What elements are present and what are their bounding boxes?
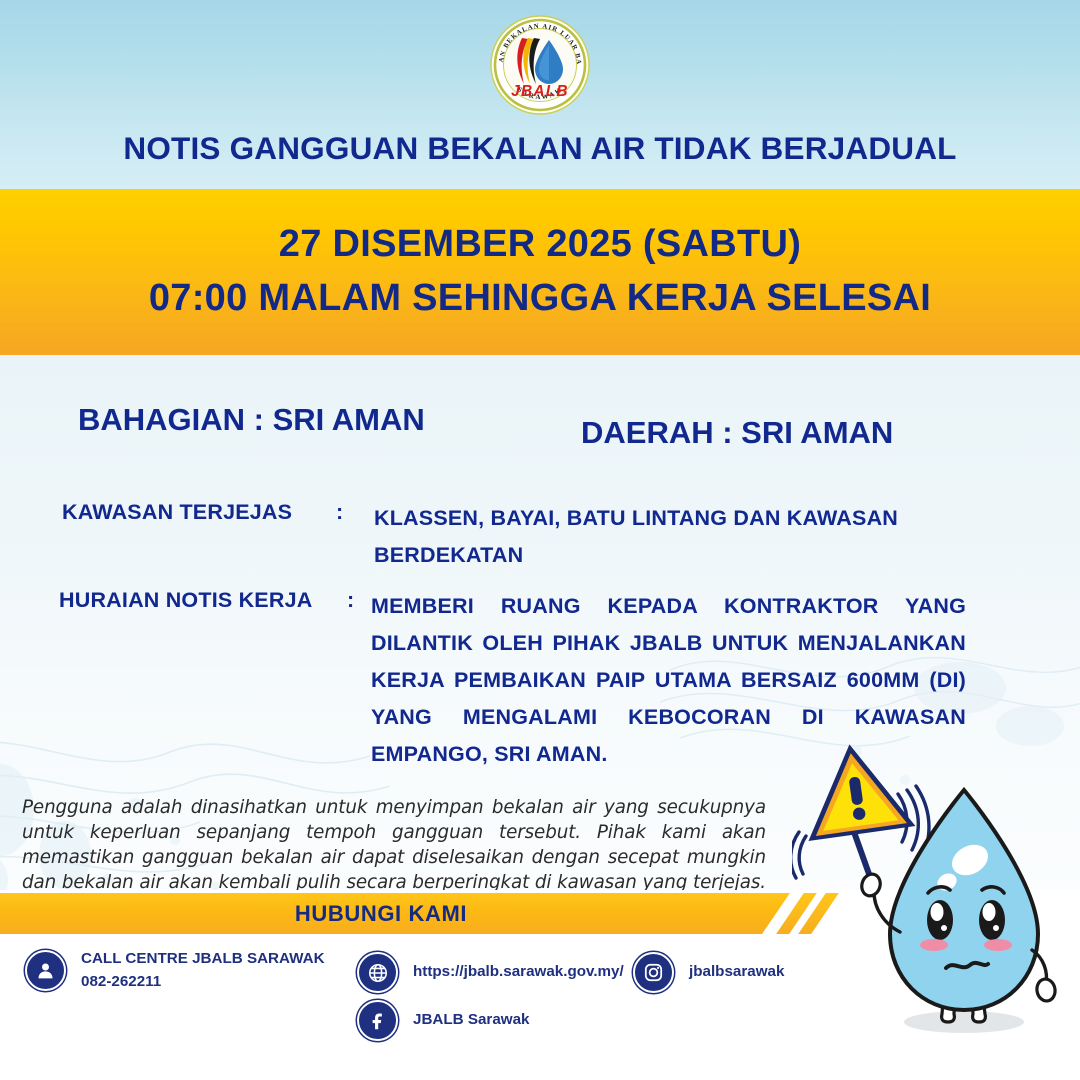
affected-areas-colon: : (336, 500, 343, 525)
work-description-label: HURAIAN NOTIS KERJA (59, 588, 312, 613)
division-label: BAHAGIAN : SRI AMAN (78, 402, 425, 438)
contact-banner: HUBUNGI KAMI (0, 893, 1080, 934)
facebook-label: JBALB Sarawak (413, 1009, 530, 1032)
contact-instagram[interactable]: jbalbsarawak (633, 952, 784, 993)
district-label: DAERAH : SRI AMAN (581, 415, 893, 451)
affected-areas-value: KLASSEN, BAYAI, BATU LINTANG DAN KAWASAN… (374, 500, 974, 574)
jbalb-seal-logo: JABATAN BEKALAN AIR LUAR BANDAR SARAWAK … (489, 14, 591, 116)
call-centre-text: CALL CENTRE JBALB SARAWAK 082-262211 (81, 948, 325, 994)
call-centre-line1: CALL CENTRE JBALB SARAWAK (81, 950, 325, 967)
svg-text:JBALB: JBALB (511, 83, 569, 100)
person-icon (25, 950, 66, 991)
contact-details: CALL CENTRE JBALB SARAWAK 082-262211 htt… (0, 934, 1080, 1080)
date-line-1: 27 DISEMBER 2025 (SABTU) (279, 218, 801, 272)
page-title: NOTIS GANGGUAN BEKALAN AIR TIDAK BERJADU… (0, 130, 1080, 167)
instagram-icon (633, 952, 674, 993)
date-line-2: 07:00 MALAM SEHINGGA KERJA SELESAI (149, 272, 931, 326)
website-label: https://jbalb.sarawak.gov.my/ (413, 961, 624, 984)
call-centre-line2: 082-262211 (81, 971, 325, 994)
contact-call-centre[interactable]: CALL CENTRE JBALB SARAWAK 082-262211 (25, 948, 325, 994)
work-description-value: MEMBERI RUANG KEPADA KONTRAKTOR YANG DIL… (371, 588, 966, 773)
affected-areas-label: KAWASAN TERJEJAS (62, 500, 292, 525)
water-disruption-notice-poster: JABATAN BEKALAN AIR LUAR BANDAR SARAWAK … (0, 0, 1080, 1080)
contact-banner-title: HUBUNGI KAMI (295, 901, 467, 927)
facebook-icon (357, 1000, 398, 1041)
contact-banner-shape: HUBUNGI KAMI (0, 893, 790, 934)
contact-website[interactable]: https://jbalb.sarawak.gov.my/ (357, 952, 624, 993)
disclaimer-text: Pengguna adalah dinasihatkan untuk menyi… (22, 796, 766, 890)
date-banner: 27 DISEMBER 2025 (SABTU) 07:00 MALAM SEH… (0, 189, 1080, 355)
contact-facebook[interactable]: JBALB Sarawak (357, 1000, 530, 1041)
work-description-colon: : (347, 588, 354, 613)
globe-icon (357, 952, 398, 993)
notice-body: BAHAGIAN : SRI AMAN DAERAH : SRI AMAN KA… (0, 355, 1080, 890)
instagram-label: jbalbsarawak (689, 961, 784, 984)
